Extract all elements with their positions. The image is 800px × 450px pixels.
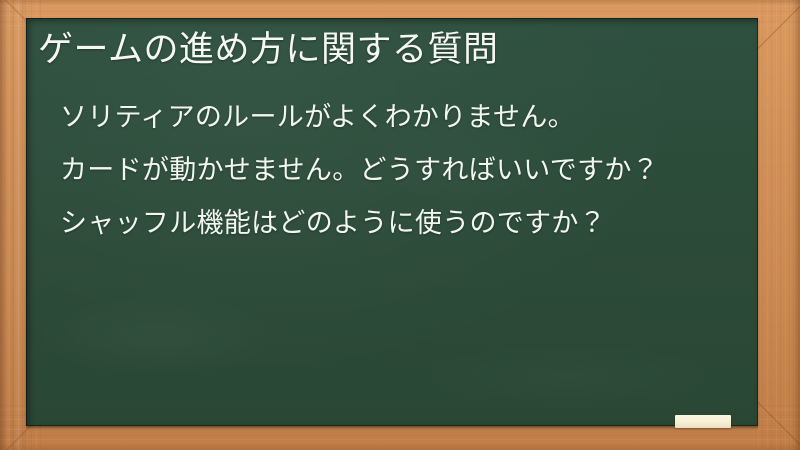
list-item: シャッフル機能はどのように使うのですか？ (60, 210, 746, 237)
chalk-stick (675, 415, 731, 428)
board-content: ゲームの進め方に関する質問 ソリティアのルールがよくわかりません。 カードが動か… (26, 18, 758, 426)
page-title: ゲームの進め方に関する質問 (38, 30, 498, 70)
list-item: カードが動かせません。どうすればいいですか？ (60, 157, 746, 184)
chalkboard-surface: ゲームの進め方に関する質問 ソリティアのルールがよくわかりません。 カードが動か… (26, 18, 758, 426)
chalkboard-scene: ゲームの進め方に関する質問 ソリティアのルールがよくわかりません。 カードが動か… (0, 0, 800, 450)
list-item: ソリティアのルールがよくわかりません。 (60, 104, 746, 131)
board-ledge-shadow (26, 426, 758, 431)
question-list: ソリティアのルールがよくわかりません。 カードが動かせません。どうすればいいです… (60, 104, 746, 237)
